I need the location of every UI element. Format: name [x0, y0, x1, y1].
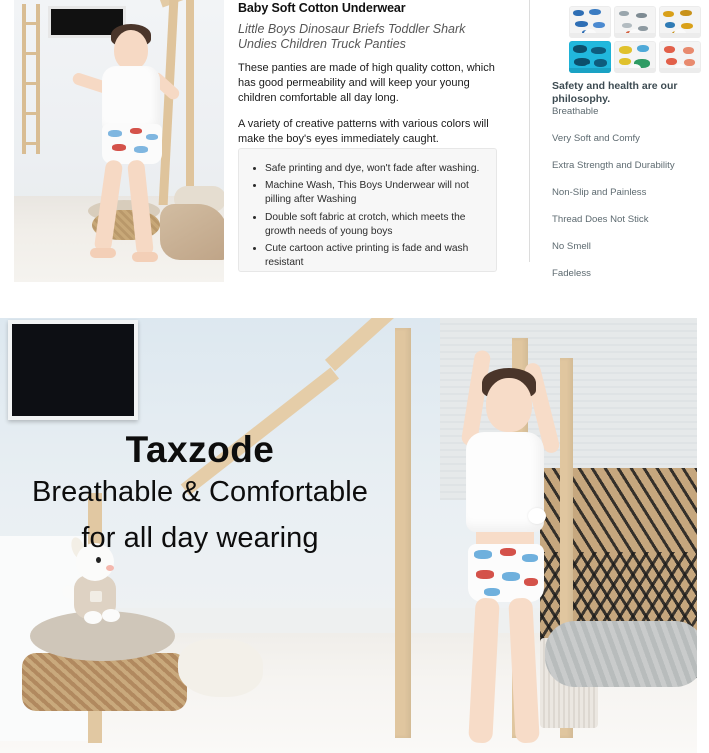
color-swatch-grid: [569, 6, 701, 73]
model-shirt: [102, 66, 160, 132]
list-item: Double soft fabric at crotch, which meet…: [265, 211, 486, 239]
model-underwear: [468, 544, 544, 602]
model-foot-left: [90, 248, 116, 258]
model-leg-right: [127, 159, 154, 256]
model-leg-left: [468, 597, 500, 743]
list-item: Machine Wash, This Boys Underwear will n…: [265, 179, 486, 207]
hero-product-photo: [14, 0, 224, 282]
banner-text-overlay: Taxzode Breathable & Comfortable for all…: [0, 428, 400, 558]
swatch-grey-truck-print[interactable]: [614, 6, 656, 38]
list-item: Breathable: [552, 106, 704, 118]
right-info-column: Safety and health are our philosophy. Br…: [529, 0, 709, 262]
tent-post-right: [186, 0, 194, 210]
wall-art-frame-icon: [8, 320, 138, 420]
product-text-column: Baby Soft Cotton Underwear Little Boys D…: [238, 0, 500, 147]
swatch-teal-dinosaur-print[interactable]: [569, 41, 611, 73]
list-item: Fadeless: [552, 268, 704, 280]
swatch-yellow-green-dino-print[interactable]: [614, 41, 656, 73]
product-info-module: Baby Soft Cotton Underwear Little Boys D…: [0, 0, 709, 318]
model-underwear: [102, 124, 162, 164]
model-foot-right: [132, 252, 158, 262]
model-shirt-knot: [528, 508, 546, 524]
list-item: Very Soft and Comfy: [552, 133, 704, 145]
model-leg-left: [94, 159, 124, 252]
rattan-ottoman-prop: [22, 653, 187, 711]
banner-tagline-line-2: for all day wearing: [0, 518, 400, 558]
swatch-yellow-excavator-print[interactable]: [659, 6, 701, 38]
feature-bullets-card: Safe printing and dye, won't fade after …: [238, 148, 497, 272]
ladder-prop: [22, 4, 40, 154]
product-subtitle: Little Boys Dinosaur Briefs Toddler Shar…: [238, 22, 500, 52]
swatch-blue-shark-print[interactable]: [569, 6, 611, 38]
list-item: Non-Slip and Painless: [552, 187, 704, 199]
list-item: Extra Strength and Durability: [552, 160, 704, 172]
product-title: Baby Soft Cotton Underwear: [238, 0, 500, 16]
banner-tagline-line-1: Breathable & Comfortable: [0, 472, 400, 512]
product-detail-page: Baby Soft Cotton Underwear Little Boys D…: [0, 0, 709, 753]
list-item: Thread Does Not Stick: [552, 214, 704, 226]
list-item: No Smell: [552, 241, 704, 253]
child-model: [66, 22, 176, 272]
swatch-red-dinosaur-print[interactable]: [659, 41, 701, 73]
product-paragraph-1: These panties are made of high quality c…: [238, 61, 500, 106]
brand-name: Taxzode: [0, 428, 400, 472]
feature-bullets-list: Safe printing and dye, won't fade after …: [265, 162, 486, 270]
product-paragraph-2: A variety of creative patterns with vari…: [238, 117, 500, 147]
right-panel-feature-list: Breathable Very Soft and Comfy Extra Str…: [552, 106, 704, 295]
list-item: Cute cartoon active printing is fade and…: [265, 242, 486, 270]
model-head: [114, 30, 148, 70]
model-head: [486, 378, 532, 432]
cloud-pillow-prop: [178, 639, 263, 697]
right-panel-heading: Safety and health are our philosophy.: [552, 80, 702, 106]
lifestyle-banner: Taxzode Breathable & Comfortable for all…: [0, 318, 697, 753]
list-item: Safe printing and dye, won't fade after …: [265, 162, 486, 176]
model-leg-right: [508, 597, 540, 743]
banner-child-model: [430, 340, 580, 740]
